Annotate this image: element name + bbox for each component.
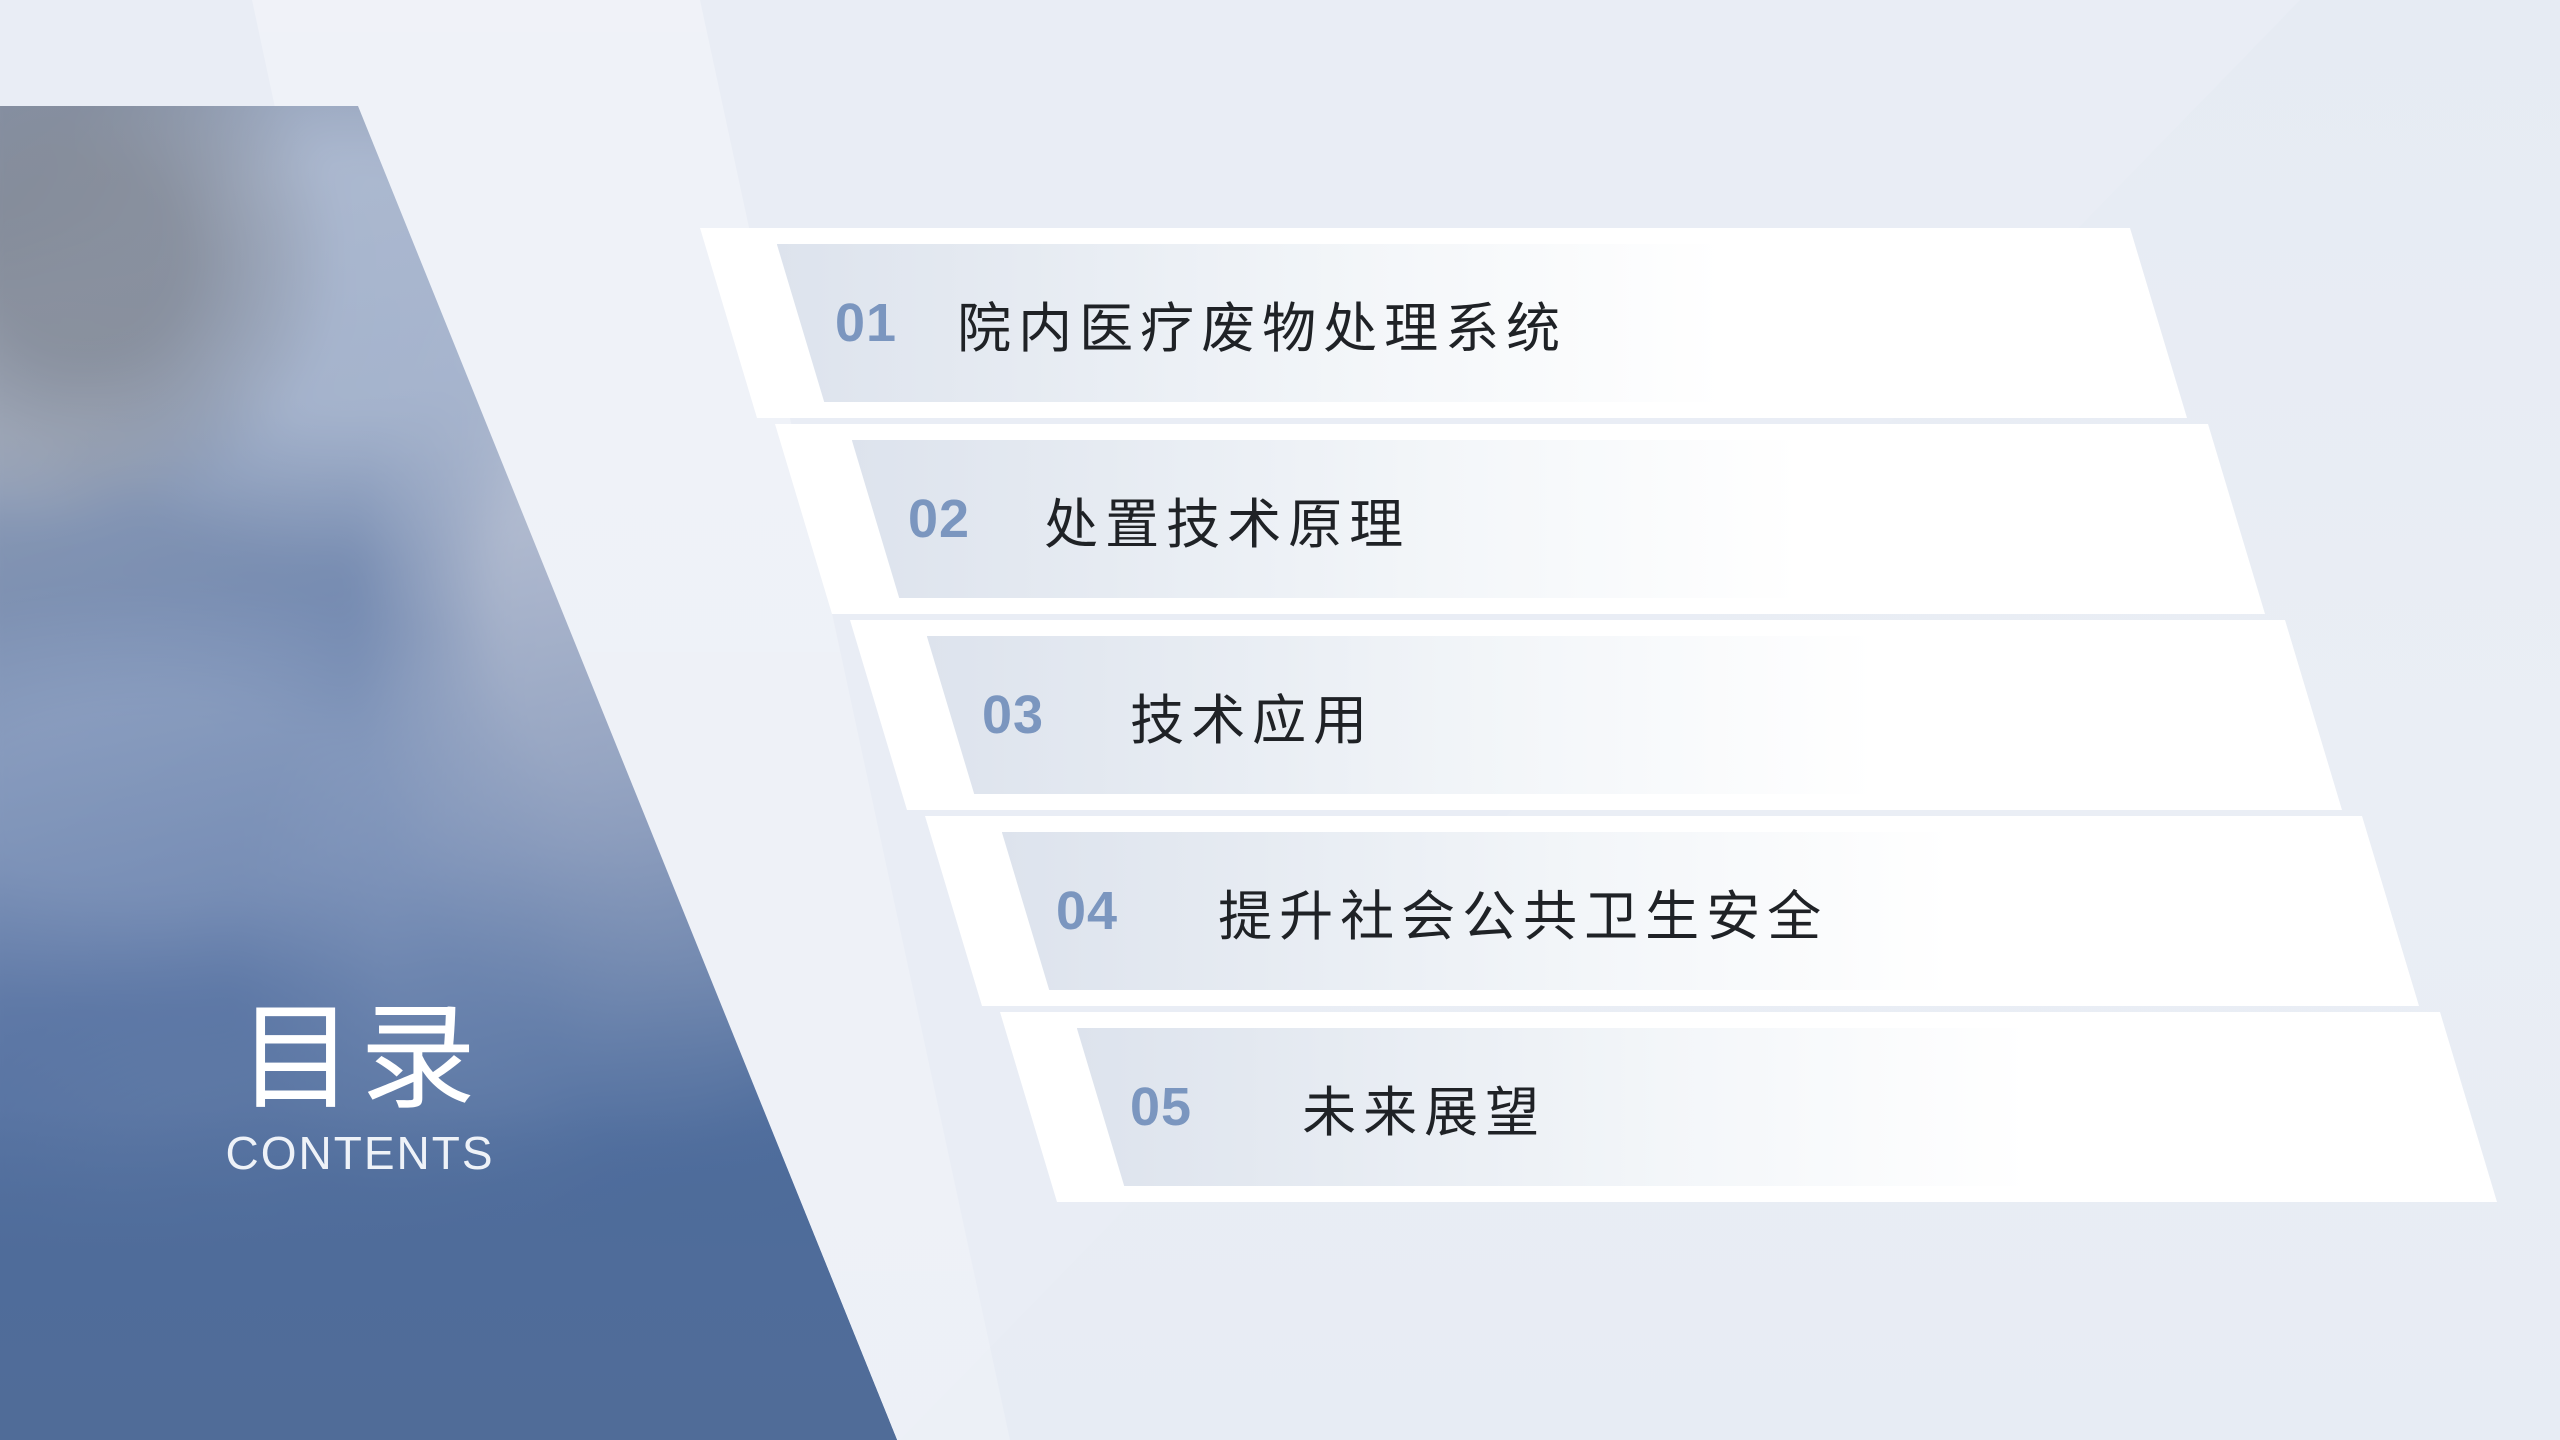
contents-row-05-body: 05 未来展望 (1130, 1012, 1546, 1202)
contents-row-02-label: 处置技术原理 (1044, 480, 1410, 559)
contents-row-02[interactable]: 02 处置技术原理 (775, 424, 2269, 614)
contents-row-03-body: 03 技术应用 (982, 620, 1374, 810)
contents-row-03-label: 技术应用 (1130, 676, 1374, 755)
contents-row-01[interactable]: 01 院内医疗废物处理系统 (700, 228, 2191, 418)
contents-row-01-label: 院内医疗废物处理系统 (957, 284, 1567, 363)
contents-row-04-body: 04 提升社会公共卫生安全 (1056, 816, 1828, 1006)
contents-row-02-number: 02 (908, 488, 970, 550)
page-subtitle: CONTENTS (150, 1130, 570, 1176)
contents-row-02-body: 02 处置技术原理 (908, 424, 1410, 614)
contents-row-01-body: 01 院内医疗废物处理系统 (835, 228, 1567, 418)
contents-row-01-number: 01 (835, 292, 897, 354)
contents-row-05-number: 05 (1130, 1076, 1192, 1138)
contents-row-05[interactable]: 05 未来展望 (1000, 1012, 2501, 1202)
contents-row-03[interactable]: 03 技术应用 (850, 620, 2346, 810)
contents-list: 01 院内医疗废物处理系统 02 处置技术原理 03 技术应用 04 提升社会公… (0, 0, 2560, 1440)
contents-row-04-label: 提升社会公共卫生安全 (1218, 872, 1828, 951)
title-block: 目录 CONTENTS (150, 1000, 570, 1176)
contents-row-04-number: 04 (1056, 880, 1118, 942)
contents-row-05-label: 未来展望 (1302, 1068, 1546, 1147)
contents-row-03-number: 03 (982, 684, 1044, 746)
contents-slide: 目录 CONTENTS 01 院内医疗废物处理系统 02 处置技术原理 03 技… (0, 0, 2560, 1440)
page-title: 目录 (150, 1000, 570, 1116)
contents-row-04[interactable]: 04 提升社会公共卫生安全 (925, 816, 2423, 1006)
